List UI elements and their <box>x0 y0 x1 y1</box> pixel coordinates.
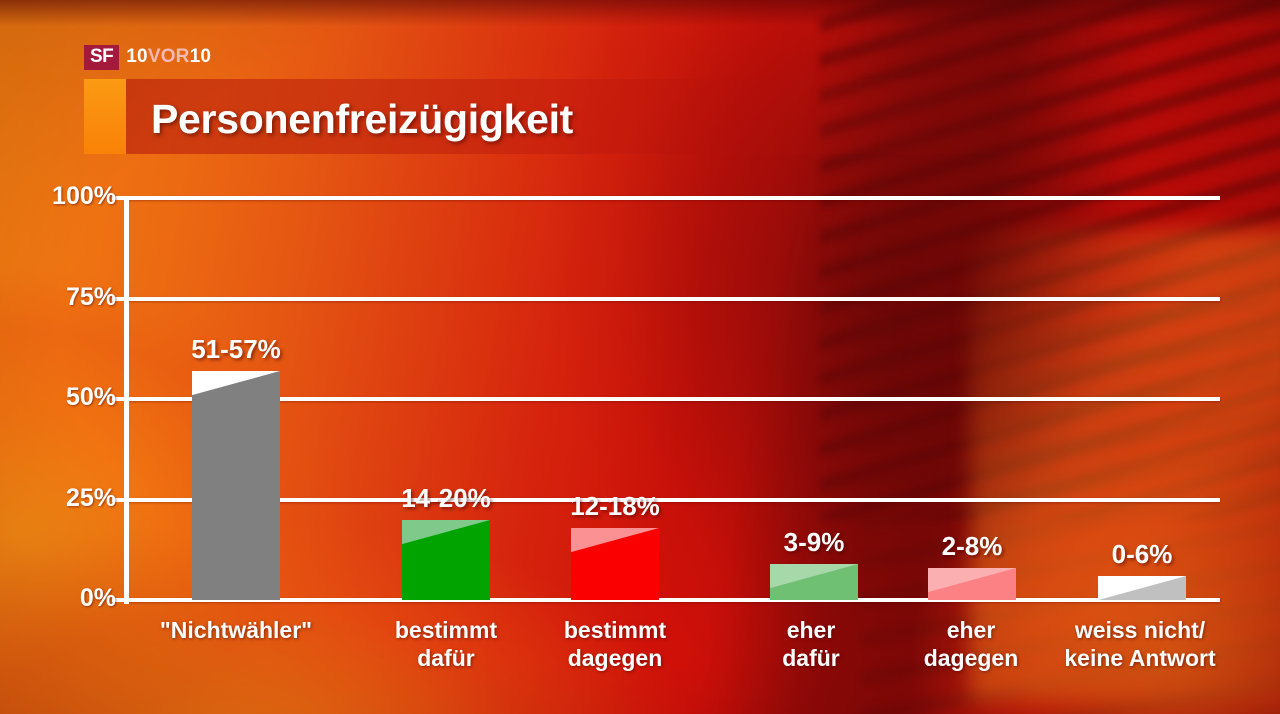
bar-value-label: 12-18% <box>505 491 725 522</box>
bar <box>571 528 659 600</box>
bar <box>928 568 1016 600</box>
y-axis-line <box>124 196 129 604</box>
bar <box>1098 576 1186 600</box>
bar <box>770 564 858 600</box>
gridline-75 <box>128 297 1220 301</box>
bar <box>402 520 490 600</box>
x-axis-category-line: weiss nicht/ <box>1000 616 1280 644</box>
bar-value-label: 51-57% <box>126 334 346 365</box>
bar-chart: 100%75%50%25%0% 51-57% 14-20% 12-18% 3-9… <box>0 0 1280 714</box>
y-axis-label: 25% <box>66 484 116 513</box>
bar-value-label: 0-6% <box>1032 539 1252 570</box>
y-axis-label: 75% <box>66 283 116 312</box>
y-axis-label: 0% <box>80 584 116 613</box>
x-axis-category-label: weiss nicht/keine Antwort <box>1000 616 1280 672</box>
gridline-0 <box>128 598 1220 602</box>
y-axis-label: 100% <box>52 182 116 211</box>
bar <box>192 371 280 600</box>
x-axis-category-line: keine Antwort <box>1000 644 1280 672</box>
gridline-50 <box>128 397 1220 401</box>
gridline-100 <box>128 196 1220 200</box>
chart-screenshot: SF 10VOR10 Personenfreizügigkeit 100%75%… <box>0 0 1280 714</box>
y-axis-label: 50% <box>66 383 116 412</box>
